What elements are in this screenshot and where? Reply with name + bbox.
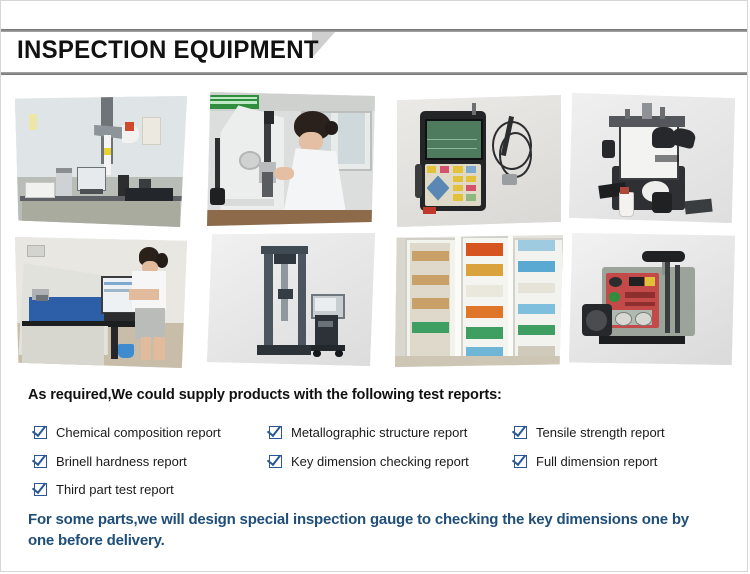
photo-hardness-tester xyxy=(207,92,375,226)
report-item-label: Metallographic structure report xyxy=(291,425,467,440)
report-item-metallographic-structure[interactable]: Metallographic structure report xyxy=(269,425,467,440)
reports-heading: As required,We could supply products wit… xyxy=(28,387,502,403)
photo-spectrometer xyxy=(15,237,187,368)
report-item-third-part-test[interactable]: Third part test report xyxy=(34,482,174,497)
banner-bottom-rule xyxy=(1,72,748,75)
report-item-label: Third part test report xyxy=(56,482,174,497)
report-item-label: Brinell hardness report xyxy=(56,454,187,469)
inspection-equipment-page: INSPECTION EQUIPMENT xyxy=(0,0,748,572)
photo-flaw-detector xyxy=(397,95,561,227)
inspection-gauge-note: For some parts,we will design special in… xyxy=(28,509,718,551)
report-item-label: Chemical composition report xyxy=(56,425,221,440)
check-icon xyxy=(34,426,47,439)
report-item-label: Full dimension report xyxy=(536,454,657,469)
banner-top-rule xyxy=(1,29,748,32)
report-item-chemical-composition[interactable]: Chemical composition report xyxy=(34,425,221,440)
photo-welding-unit xyxy=(569,233,735,365)
report-item-label: Tensile strength report xyxy=(536,425,665,440)
check-icon xyxy=(514,426,527,439)
photo-microscope xyxy=(569,93,735,223)
equipment-photo-gallery xyxy=(1,89,748,374)
report-item-label: Key dimension checking report xyxy=(291,454,469,469)
check-icon xyxy=(514,455,527,468)
check-icon xyxy=(34,455,47,468)
check-icon xyxy=(269,426,282,439)
page-title: INSPECTION EQUIPMENT xyxy=(17,36,319,65)
report-item-full-dimension[interactable]: Full dimension report xyxy=(514,454,657,469)
check-icon xyxy=(34,483,47,496)
report-item-brinell-hardness[interactable]: Brinell hardness report xyxy=(34,454,187,469)
photo-tensile-machine xyxy=(207,233,375,366)
photo-gauge-cabinet xyxy=(395,235,563,367)
report-item-key-dimension-checking[interactable]: Key dimension checking report xyxy=(269,454,469,469)
check-icon xyxy=(269,455,282,468)
photo-cmm xyxy=(15,96,187,227)
page-header-banner: INSPECTION EQUIPMENT xyxy=(1,29,748,75)
report-item-tensile-strength[interactable]: Tensile strength report xyxy=(514,425,665,440)
